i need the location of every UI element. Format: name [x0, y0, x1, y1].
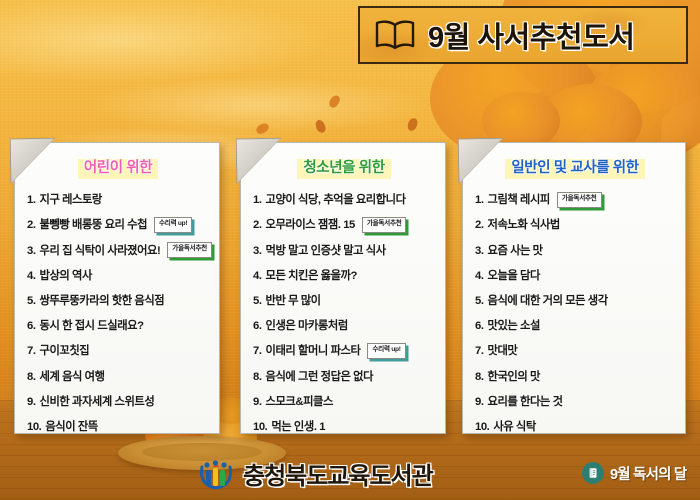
book-title: 그림책 레시피 [488, 188, 550, 213]
item-number: 1. [253, 188, 262, 213]
item-number: 5. [27, 289, 36, 314]
item-number: 3. [253, 239, 262, 264]
column-card-teens: 청소년을 위한 1.고양이 식당, 추억을 요리합니다 2.오무라이스 잼잼. … [240, 142, 446, 434]
book-title: 맛있는 소설 [488, 314, 540, 339]
book-title: 지구 레스토랑 [40, 188, 102, 213]
list-item[interactable]: 9.신비한 과자세계 스위트성 [27, 390, 209, 415]
list-item[interactable]: 3.우리 집 식탁이 사라졌어요!가을독서추천 [27, 239, 209, 264]
book-title: 불뼁빵 배롱뚱 요리 수첩 [40, 213, 148, 238]
list-item[interactable]: 2.저속노화 식사법 [475, 213, 675, 238]
item-number: 6. [27, 314, 36, 339]
list-item[interactable]: 9.요리를 한다는 것 [475, 390, 675, 415]
item-number: 1. [475, 188, 484, 213]
book-title: 저속노화 식사법 [488, 213, 560, 238]
book-title: 세계 음식 여행 [40, 365, 105, 390]
list-item[interactable]: 7.구이꼬칫집 [27, 339, 209, 364]
column-card-children: 어린이 위한 1.지구 레스토랑 2.불뼁빵 배롱뚱 요리 수첩수리력 up! … [14, 142, 220, 434]
column-title-children: 어린이 위한 [78, 159, 158, 179]
recommendation-columns: 어린이 위한 1.지구 레스토랑 2.불뼁빵 배롱뚱 요리 수첩수리력 up! … [0, 0, 700, 500]
item-number: 6. [253, 314, 262, 339]
item-number: 8. [475, 365, 484, 390]
book-title: 맛대맛 [488, 339, 518, 364]
book-title: 음식이 잔뜩 [45, 415, 97, 440]
list-item[interactable]: 9.스모크&피클스 [253, 390, 435, 415]
list-item[interactable]: 4.오늘을 담다 [475, 264, 675, 289]
list-item[interactable]: 8.세계 음식 여행 [27, 365, 209, 390]
book-title: 요즘 사는 맛 [488, 239, 543, 264]
book-title: 밥상의 역사 [40, 264, 92, 289]
badge-autumn-reading: 가을독서추천 [167, 242, 212, 258]
badge-autumn-reading: 가을독서추천 [557, 192, 602, 208]
library-logo-icon [196, 455, 236, 491]
footer-organization: 충청북도교육도서관 [196, 455, 433, 491]
book-title: 한국인의 맛 [488, 365, 540, 390]
book-title: 음식에 대한 거의 모든 생각 [488, 289, 608, 314]
item-number: 5. [475, 289, 484, 314]
column-title-adults: 일반인 및 교사를 위한 [505, 159, 644, 179]
item-number: 2. [253, 213, 262, 238]
list-item[interactable]: 6.맛있는 소설 [475, 314, 675, 339]
badge-math-up: 수리력 up! [154, 217, 192, 233]
list-item[interactable]: 3.요즘 사는 맛 [475, 239, 675, 264]
item-number: 9. [27, 390, 36, 415]
list-item[interactable]: 5.쌍뚜루뚱카라의 핫한 음식점 [27, 289, 209, 314]
list-item[interactable]: 5.음식에 대한 거의 모든 생각 [475, 289, 675, 314]
item-number: 4. [253, 264, 262, 289]
book-list-children: 1.지구 레스토랑 2.불뼁빵 배롱뚱 요리 수첩수리력 up! 3.우리 집 … [27, 188, 209, 440]
book-badge-icon [582, 462, 604, 484]
list-item[interactable]: 10.먹는 인생. 1 [253, 415, 435, 440]
item-number: 2. [27, 213, 36, 238]
book-list-teens: 1.고양이 식당, 추억을 요리합니다 2.오무라이스 잼잼. 15가을독서추천… [253, 188, 435, 440]
item-number: 1. [27, 188, 36, 213]
item-number: 10. [253, 415, 267, 440]
book-title: 쌍뚜루뚱카라의 핫한 음식점 [40, 289, 165, 314]
list-item[interactable]: 8.음식에 그런 정답은 없다 [253, 365, 435, 390]
list-item[interactable]: 1.지구 레스토랑 [27, 188, 209, 213]
list-item[interactable]: 6.인생은 마카롱처럼 [253, 314, 435, 339]
list-item[interactable]: 5.반반 무 많이 [253, 289, 435, 314]
item-number: 9. [475, 390, 484, 415]
book-title: 동시 한 접시 드실래요? [40, 314, 144, 339]
item-number: 10. [27, 415, 41, 440]
book-title: 먹는 인생. 1 [271, 415, 325, 440]
book-list-adults: 1.그림책 레시피가을독서추천 2.저속노화 식사법 3.요즘 사는 맛 4.오… [475, 188, 675, 440]
badge-autumn-reading: 가을독서추천 [362, 217, 407, 233]
item-number: 3. [475, 239, 484, 264]
list-item[interactable]: 3.먹방 말고 인증샷 말고 식사 [253, 239, 435, 264]
list-item[interactable]: 6.동시 한 접시 드실래요? [27, 314, 209, 339]
item-number: 7. [27, 339, 36, 364]
list-item[interactable]: 10.사유 식탁 [475, 415, 675, 440]
item-number: 10. [475, 415, 489, 440]
item-number: 7. [253, 339, 262, 364]
book-title: 인생은 마카롱처럼 [266, 314, 348, 339]
list-item[interactable]: 1.그림책 레시피가을독서추천 [475, 188, 675, 213]
book-title: 반반 무 많이 [266, 289, 321, 314]
item-number: 8. [253, 365, 262, 390]
book-title: 스모크&피클스 [266, 390, 333, 415]
item-number: 3. [27, 239, 36, 264]
book-title: 구이꼬칫집 [40, 339, 90, 364]
list-item[interactable]: 2.불뼁빵 배롱뚱 요리 수첩수리력 up! [27, 213, 209, 238]
reading-month-badge: 9월 독서의 달 [582, 462, 686, 484]
item-number: 8. [27, 365, 36, 390]
item-number: 7. [475, 339, 484, 364]
book-title: 먹방 말고 인증샷 말고 식사 [266, 239, 386, 264]
book-title: 이태리 할머니 파스타 [266, 339, 361, 364]
item-number: 4. [27, 264, 36, 289]
book-title: 모든 치킨은 옳을까? [266, 264, 357, 289]
list-item[interactable]: 8.한국인의 맛 [475, 365, 675, 390]
column-title-teens: 청소년을 위한 [297, 159, 390, 179]
item-number: 5. [253, 289, 262, 314]
book-title: 우리 집 식탁이 사라졌어요! [40, 239, 161, 264]
list-item[interactable]: 4.밥상의 역사 [27, 264, 209, 289]
item-number: 9. [253, 390, 262, 415]
column-card-adults: 일반인 및 교사를 위한 1.그림책 레시피가을독서추천 2.저속노화 식사법 … [462, 142, 686, 434]
reading-month-label: 9월 독서의 달 [610, 463, 686, 484]
list-item[interactable]: 10.음식이 잔뜩 [27, 415, 209, 440]
list-item[interactable]: 7.이태리 할머니 파스타수리력 up! [253, 339, 435, 364]
book-title: 고양이 식당, 추억을 요리합니다 [266, 188, 406, 213]
item-number: 6. [475, 314, 484, 339]
list-item[interactable]: 1.고양이 식당, 추억을 요리합니다 [253, 188, 435, 213]
item-number: 4. [475, 264, 484, 289]
book-title: 요리를 한다는 것 [488, 390, 563, 415]
book-title: 오무라이스 잼잼. 15 [266, 213, 355, 238]
book-title: 오늘을 담다 [488, 264, 540, 289]
book-title: 음식에 그런 정답은 없다 [266, 365, 374, 390]
book-title: 신비한 과자세계 스위트성 [40, 390, 155, 415]
list-item[interactable]: 7.맛대맛 [475, 339, 675, 364]
poster-canvas: 9월 사서추천도서 어린이 위한 1.지구 레스토랑 2.불뼁빵 배롱뚱 요리 … [0, 0, 700, 500]
item-number: 2. [475, 213, 484, 238]
badge-math-up: 수리력 up! [367, 343, 405, 359]
list-item[interactable]: 4.모든 치킨은 옳을까? [253, 264, 435, 289]
list-item[interactable]: 2.오무라이스 잼잼. 15가을독서추천 [253, 213, 435, 238]
organization-name: 충청북도교육도서관 [243, 456, 433, 491]
book-title: 사유 식탁 [493, 415, 535, 440]
